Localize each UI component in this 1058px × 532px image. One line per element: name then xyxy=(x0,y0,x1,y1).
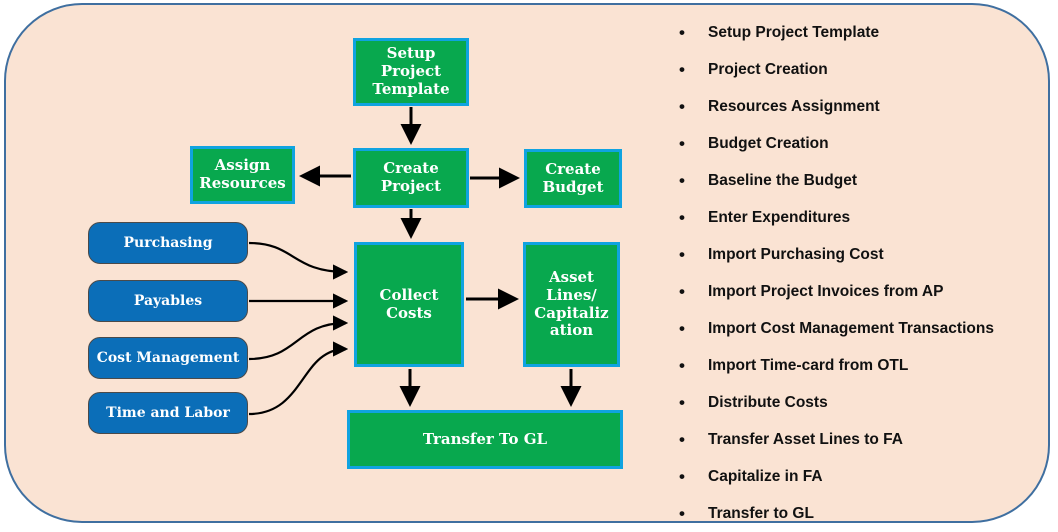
list-item: • Import Project Invoices from AP xyxy=(672,273,1058,310)
list-item-label: Resources Assignment xyxy=(708,98,880,115)
list-item: • Capitalize in FA xyxy=(672,458,1058,495)
diagram-canvas: Setup Project Template Assign Resources … xyxy=(0,0,1058,530)
node-time-and-labor[interactable]: Time and Labor xyxy=(88,392,248,434)
node-label: Assign Resources xyxy=(195,157,289,192)
bullet-icon: • xyxy=(679,125,685,162)
list-item: • Setup Project Template xyxy=(672,14,1058,51)
bullet-icon: • xyxy=(679,347,685,384)
list-item: • Project Creation xyxy=(672,51,1058,88)
list-item-label: Project Creation xyxy=(708,61,828,78)
bullet-icon: • xyxy=(679,199,685,236)
process-steps-list: • Setup Project Template • Project Creat… xyxy=(672,14,1058,532)
list-item-label: Budget Creation xyxy=(708,135,829,152)
list-item-label: Distribute Costs xyxy=(708,394,828,411)
node-create-budget[interactable]: Create Budget xyxy=(524,149,622,208)
node-asset-lines-capitalization[interactable]: Asset Lines/ Capitaliz ation xyxy=(523,242,620,367)
node-label: Collect Costs xyxy=(376,287,443,322)
node-label: Cost Management xyxy=(93,350,244,367)
node-label: Setup Project Template xyxy=(368,45,453,98)
node-cost-management[interactable]: Cost Management xyxy=(88,337,248,379)
node-collect-costs[interactable]: Collect Costs xyxy=(354,242,464,367)
bullet-icon: • xyxy=(679,495,685,532)
node-label: Transfer To GL xyxy=(419,431,551,449)
bullet-icon: • xyxy=(679,162,685,199)
bullet-icon: • xyxy=(679,458,685,495)
list-item: • Budget Creation xyxy=(672,125,1058,162)
node-transfer-to-gl[interactable]: Transfer To GL xyxy=(347,410,623,469)
list-item-label: Import Project Invoices from AP xyxy=(708,283,943,300)
list-item: • Import Purchasing Cost xyxy=(672,236,1058,273)
node-payables[interactable]: Payables xyxy=(88,280,248,322)
node-label: Asset Lines/ Capitaliz ation xyxy=(530,269,612,340)
node-assign-resources[interactable]: Assign Resources xyxy=(190,146,295,204)
node-purchasing[interactable]: Purchasing xyxy=(88,222,248,264)
list-item: • Distribute Costs xyxy=(672,384,1058,421)
node-label: Create Project xyxy=(377,160,445,195)
bullet-icon: • xyxy=(679,273,685,310)
bullet-icon: • xyxy=(679,51,685,88)
list-item: • Transfer to GL xyxy=(672,495,1058,532)
list-item-label: Import Cost Management Transactions xyxy=(708,320,994,337)
node-label: Purchasing xyxy=(119,235,216,252)
bullet-icon: • xyxy=(679,421,685,458)
list-item-label: Transfer to GL xyxy=(708,505,814,522)
list-item-label: Baseline the Budget xyxy=(708,172,857,189)
list-item: • Transfer Asset Lines to FA xyxy=(672,421,1058,458)
list-item-label: Import Time-card from OTL xyxy=(708,357,908,374)
list-item-label: Setup Project Template xyxy=(708,24,879,41)
bullet-icon: • xyxy=(679,14,685,51)
node-create-project[interactable]: Create Project xyxy=(353,148,469,208)
list-item: • Baseline the Budget xyxy=(672,162,1058,199)
bullet-icon: • xyxy=(679,88,685,125)
node-setup-project-template[interactable]: Setup Project Template xyxy=(353,38,469,106)
list-item: • Resources Assignment xyxy=(672,88,1058,125)
node-label: Create Budget xyxy=(538,161,607,196)
bullet-icon: • xyxy=(679,384,685,421)
list-item-label: Capitalize in FA xyxy=(708,468,823,485)
bullet-icon: • xyxy=(679,236,685,273)
list-item-label: Import Purchasing Cost xyxy=(708,246,884,263)
list-item-label: Enter Expenditures xyxy=(708,209,850,226)
list-item: • Import Time-card from OTL xyxy=(672,347,1058,384)
list-item: • Enter Expenditures xyxy=(672,199,1058,236)
node-label: Time and Labor xyxy=(102,405,234,422)
list-item: • Import Cost Management Transactions xyxy=(672,310,1058,347)
node-label: Payables xyxy=(130,293,206,310)
bullet-icon: • xyxy=(679,310,685,347)
list-item-label: Transfer Asset Lines to FA xyxy=(708,431,903,448)
